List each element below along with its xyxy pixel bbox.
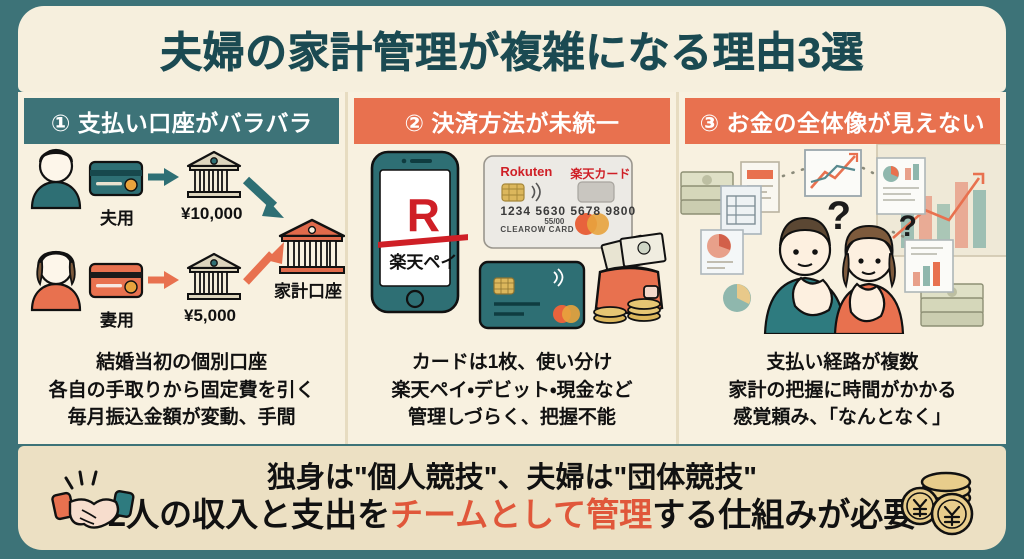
- column-3-caption-line-1: 支払い経路が複数: [683, 349, 1002, 377]
- converging-arrow-coral: [246, 242, 284, 282]
- wife-credit-card: [90, 264, 142, 297]
- column-2-illustration: R 楽天ペイ Rokuten 楽天カード 1234 5630 5678 9800…: [348, 144, 675, 345]
- banner-line-2-highlight: チームとして管理: [390, 496, 652, 533]
- column-3-caption-line-2: 家計の把握に時間がかかる: [683, 377, 1002, 405]
- banner-line-2: 2人の収入と支出をチームとして管理する仕組みが必要: [108, 497, 916, 534]
- household-bank-icon: [280, 220, 344, 273]
- reasons-columns: ① 支払い口座がバラバラ: [18, 92, 1006, 444]
- handshake-icon: [46, 466, 142, 536]
- column-1-caption: 結婚当初の個別口座 各自の手取りから固定費を引く 毎月振込金額が変動、手間: [18, 345, 345, 444]
- document-card-charts: [877, 158, 925, 214]
- husband-card-label: 夫用: [100, 204, 134, 229]
- column-2-header: ② 決済方法が未統一: [354, 98, 669, 144]
- infographic-root: 夫婦の家計管理が複雑になる理由3選 ① 支払い口座がバラバラ: [0, 0, 1024, 559]
- column-1-caption-line-2: 各自の手取りから固定費を引く: [22, 377, 341, 405]
- column-1-header: ① 支払い口座がバラバラ: [24, 98, 339, 144]
- column-2-caption: カードは1枚、使い分け 楽天ペイ・デビット・現金など 管理しづらく、把握不能: [348, 345, 675, 444]
- column-3-illustration: ? ?: [679, 144, 1006, 345]
- wife-avatar: [32, 252, 80, 310]
- wife-card-label: 妻用: [100, 306, 134, 331]
- wife-amount-label: ¥5,000: [184, 306, 236, 326]
- column-2-caption-line-2: 楽天ペイ・デビット・現金など: [352, 377, 671, 405]
- wife-arrow: [148, 271, 179, 289]
- banner-line-2-pre: 2人の収入と支出を: [108, 496, 390, 533]
- banner-line-2-post: する仕組みが必要: [652, 496, 916, 533]
- banner-line-1: 独身は"個人競技"、夫婦は"団体競技": [108, 462, 916, 494]
- document-card-2: [721, 186, 761, 234]
- husband-avatar: [32, 150, 80, 208]
- column-2-caption-line-1: カードは1枚、使い分け: [352, 349, 671, 377]
- title-panel: 夫婦の家計管理が複雑になる理由3選: [18, 6, 1006, 92]
- card-brand-label: Rokuten: [500, 164, 552, 179]
- wife-bank-icon: [188, 254, 240, 299]
- confused-couple-diagram: [679, 144, 1006, 334]
- document-card-bars: [905, 240, 953, 292]
- yen-coins-icon: [894, 462, 986, 538]
- conclusion-banner: 独身は"個人競技"、夫婦は"団体競技" 2人の収入と支出をチームとして管理する仕…: [18, 446, 1006, 550]
- husband-credit-card: [90, 162, 142, 195]
- column-1-separate-accounts: ① 支払い口座がバラバラ: [18, 92, 345, 444]
- column-3-no-overview: ③ お金の全体像が見えない: [676, 92, 1006, 444]
- column-3-caption: 支払い経路が複数 家計の把握に時間がかかる 感覚頼み、「なんとなく」: [679, 345, 1006, 444]
- rakuten-pay-label: 楽天ペイ: [378, 248, 468, 273]
- small-pie-icon: [723, 284, 751, 312]
- rakuten-r-logo: R: [392, 192, 454, 238]
- column-2-payment-methods: ② 決済方法が未統一: [345, 92, 675, 444]
- column-1-illustration: 夫用 ¥10,000 妻用 ¥5,000 家計口座: [18, 144, 345, 345]
- banner-text: 独身は"個人競技"、夫婦は"団体競技" 2人の収入と支出をチームとして管理する仕…: [108, 462, 916, 534]
- converging-arrow-teal: [246, 180, 284, 218]
- column-3-header: ③ お金の全体像が見えない: [685, 98, 1000, 144]
- column-1-caption-line-1: 結婚当初の個別口座: [22, 349, 341, 377]
- column-1-caption-line-3: 毎月振込金額が変動、手間: [22, 404, 341, 432]
- chart-card-line: [805, 150, 861, 196]
- debit-card-icon: [480, 262, 584, 328]
- household-account-label: 家計口座: [274, 277, 342, 302]
- question-mark-2: ?: [899, 212, 917, 242]
- document-card-pie: [701, 230, 743, 274]
- page-title: 夫婦の家計管理が複雑になる理由3選: [160, 19, 864, 80]
- column-3-caption-line-3: 感覚頼み、「なんとなく」: [683, 404, 1002, 432]
- husband-arrow: [148, 168, 179, 186]
- card-holder-label: CLEAROW CARD: [500, 225, 574, 234]
- card-number-label: 1234 5630 5678 9800: [500, 204, 636, 218]
- accounts-flow-diagram: [18, 144, 345, 334]
- husband-amount-label: ¥10,000: [181, 204, 242, 224]
- card-name-label: 楽天カード: [570, 165, 630, 182]
- column-2-caption-line-3: 管理しづらく、把握不能: [352, 404, 671, 432]
- husband-bank-icon: [188, 152, 240, 197]
- question-mark-1: ?: [827, 196, 851, 236]
